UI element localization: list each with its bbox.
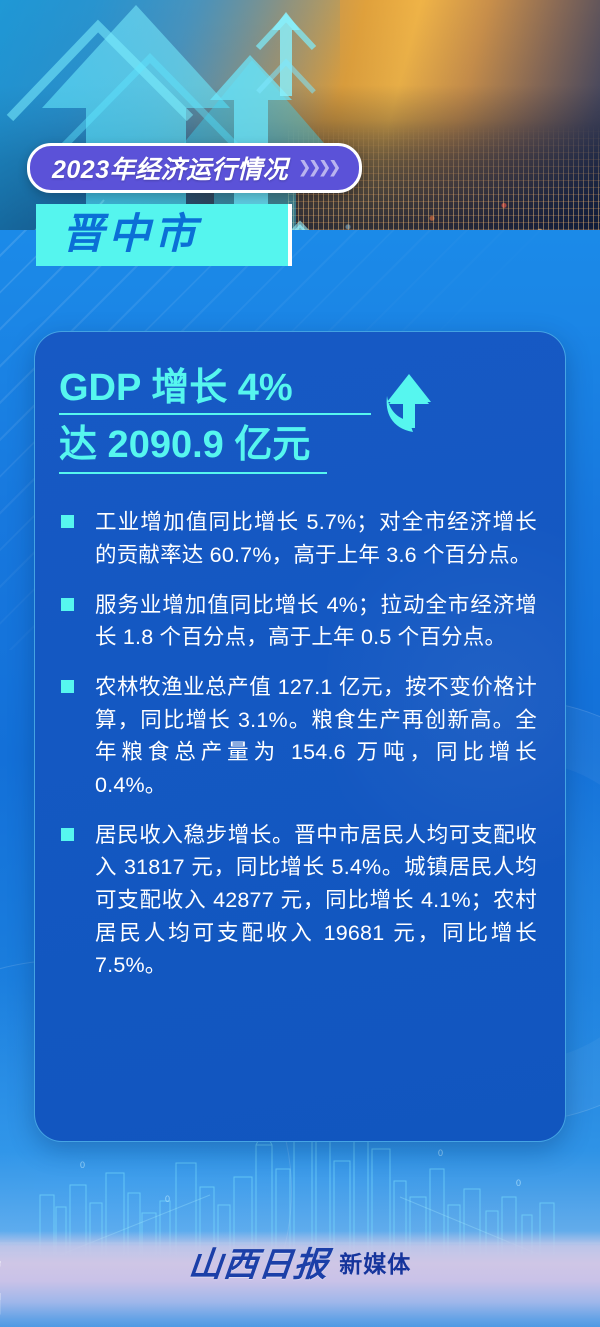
list-item: 农林牧渔业总产值 127.1 亿元，按不变价格计算，同比增长 3.1%。粮食生产…	[59, 671, 537, 802]
footer-band: 山西日报 新媒体	[0, 1231, 600, 1327]
bullet-text: 服务业增加值同比增长 4%；拉动全市经济增长 1.8 个百分点，高于上年 0.5…	[95, 589, 537, 654]
bullet-text: 工业增加值同比增长 5.7%；对全市经济增长的贡献率达 60.7%，高于上年 3…	[95, 506, 537, 571]
arrow-up-curved-svg	[379, 370, 433, 432]
city-name-badge: 晋中市	[36, 204, 292, 266]
stats-card: GDP 增长 4% 达 2090.9 亿元 工业增加值同比增长 5.7%；对全市…	[34, 331, 566, 1142]
headline-line-2: 达 2090.9 亿元	[59, 423, 371, 467]
bullet-text: 居民收入稳步增长。晋中市居民人均可支配收入 31817 元，同比增长 5.4%。…	[95, 819, 537, 982]
headline-line-1: GDP 增长 4%	[59, 366, 371, 410]
bullet-text: 农林牧渔业总产值 127.1 亿元，按不变价格计算，同比增长 3.1%。粮食生产…	[95, 671, 537, 802]
bullet-square-icon	[61, 828, 74, 841]
headline-rule-1	[59, 413, 371, 415]
list-item: 工业增加值同比增长 5.7%；对全市经济增长的贡献率达 60.7%，高于上年 3…	[59, 506, 537, 571]
bullet-list: 工业增加值同比增长 5.7%；对全市经济增长的贡献率达 60.7%，高于上年 3…	[59, 506, 537, 982]
headline-rule-2	[59, 472, 327, 474]
year-title-badge: 2023年经济运行情况	[27, 143, 362, 193]
bullet-square-icon	[61, 598, 74, 611]
headline-block: GDP 增长 4% 达 2090.9 亿元	[59, 366, 371, 482]
publisher-sub-label: 新媒体	[339, 1245, 411, 1279]
list-item: 服务业增加值同比增长 4%；拉动全市经济增长 1.8 个百分点，高于上年 0.5…	[59, 589, 537, 654]
arrow-up-curved-icon	[379, 370, 433, 437]
bullet-square-icon	[61, 680, 74, 693]
headline-row: GDP 增长 4% 达 2090.9 亿元	[59, 366, 537, 482]
city-name-text: 晋中市	[62, 210, 200, 257]
list-item: 居民收入稳步增长。晋中市居民人均可支配收入 31817 元，同比增长 5.4%。…	[59, 819, 537, 982]
publisher-logo: 山西日报 新媒体	[0, 1237, 600, 1286]
chevron-right-icon	[300, 160, 339, 177]
infographic-poster: 0 0 0 0 1 0 2023年经济运行情况 晋中市 GDP 增长 4% 达 …	[0, 0, 600, 1327]
publisher-name: 山西日报	[186, 1237, 331, 1286]
year-title-text: 2023年经济运行情况	[52, 150, 288, 186]
bullet-square-icon	[61, 515, 74, 528]
